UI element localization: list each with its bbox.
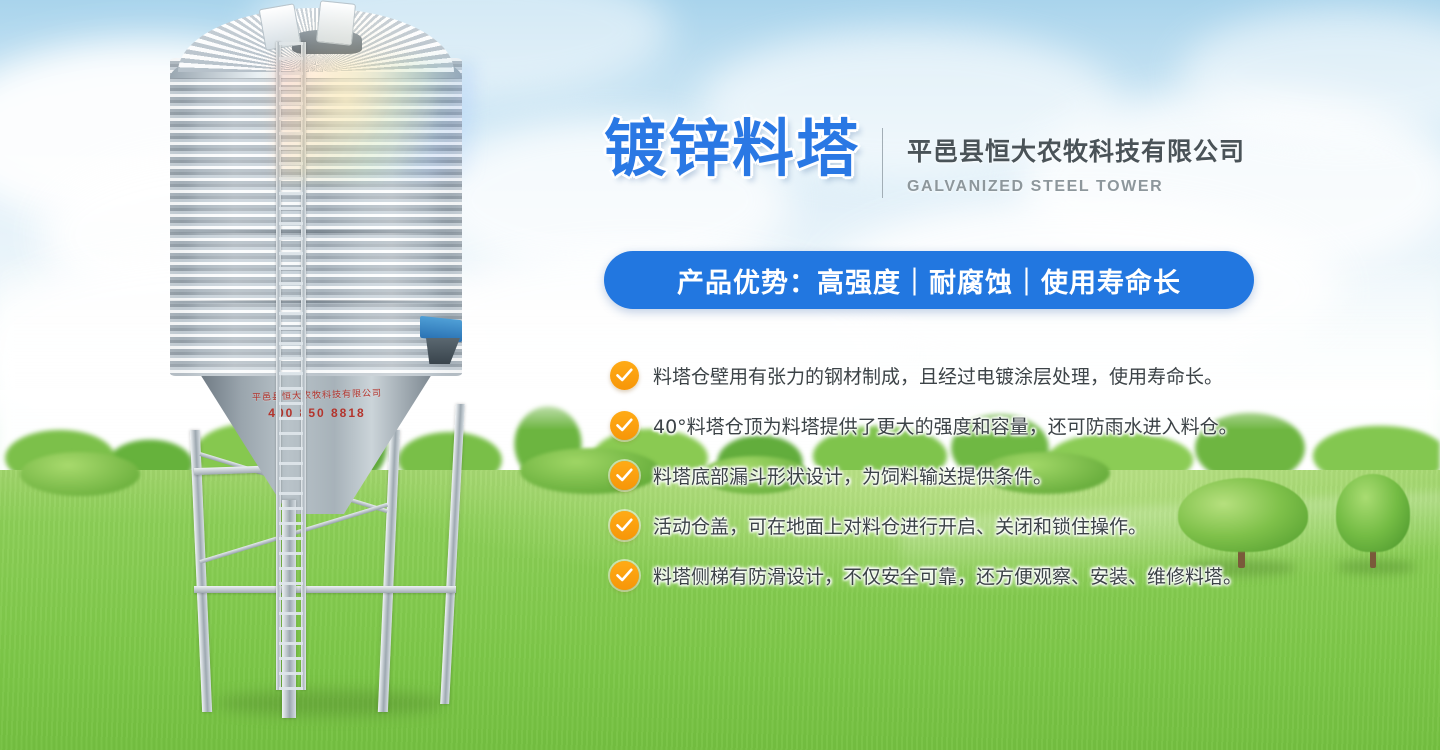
advantages-banner: 产品优势：高强度｜耐腐蚀｜使用寿命长: [604, 251, 1254, 309]
marketing-content: 镀锌料塔 平邑县恒大农牧科技有限公司 GALVANIZED STEEL TOWE…: [0, 0, 1440, 750]
check-circle-icon: [610, 411, 639, 440]
check-circle-icon: [610, 361, 639, 390]
english-subtitle: GALVANIZED STEEL TOWER: [907, 178, 1245, 196]
feature-text: 活动仓盖，可在地面上对料仓进行开启、关闭和锁住操作。: [653, 512, 1147, 539]
feature-item: 40°料塔仓顶为料塔提供了更大的强度和容量，还可防雨水进入料仓。: [610, 410, 1310, 440]
feature-item: 料塔侧梯有防滑设计，不仅安全可靠，还方便观察、安装、维修料塔。: [610, 560, 1310, 590]
check-circle-icon: [610, 561, 639, 590]
page-title: 镀锌料塔: [604, 118, 860, 180]
feature-item: 料塔仓壁用有张力的钢材制成，且经过电镀涂层处理，使用寿命长。: [610, 360, 1310, 390]
feature-text: 料塔底部漏斗形状设计，为饲料输送提供条件。: [653, 462, 1052, 489]
feature-text: 料塔仓壁用有张力的钢材制成，且经过电镀涂层处理，使用寿命长。: [653, 362, 1223, 389]
feature-item: 料塔底部漏斗形状设计，为饲料输送提供条件。: [610, 460, 1310, 490]
advantages-banner-text: 产品优势：高强度｜耐腐蚀｜使用寿命长: [677, 261, 1181, 300]
check-circle-icon: [610, 461, 639, 490]
headline-row: 镀锌料塔 平邑县恒大农牧科技有限公司 GALVANIZED STEEL TOWE…: [604, 118, 1245, 198]
feature-text: 料塔侧梯有防滑设计，不仅安全可靠，还方便观察、安装、维修料塔。: [653, 562, 1242, 589]
feature-text: 40°料塔仓顶为料塔提供了更大的强度和容量，还可防雨水进入料仓。: [653, 412, 1238, 439]
brand-block: 平邑县恒大农牧科技有限公司 GALVANIZED STEEL TOWER: [907, 118, 1245, 196]
title-divider: [882, 128, 883, 198]
check-circle-icon: [610, 511, 639, 540]
feature-list: 料塔仓壁用有张力的钢材制成，且经过电镀涂层处理，使用寿命长。40°料塔仓顶为料塔…: [610, 360, 1310, 610]
feature-item: 活动仓盖，可在地面上对料仓进行开启、关闭和锁住操作。: [610, 510, 1310, 540]
company-name: 平邑县恒大农牧科技有限公司: [907, 132, 1245, 168]
